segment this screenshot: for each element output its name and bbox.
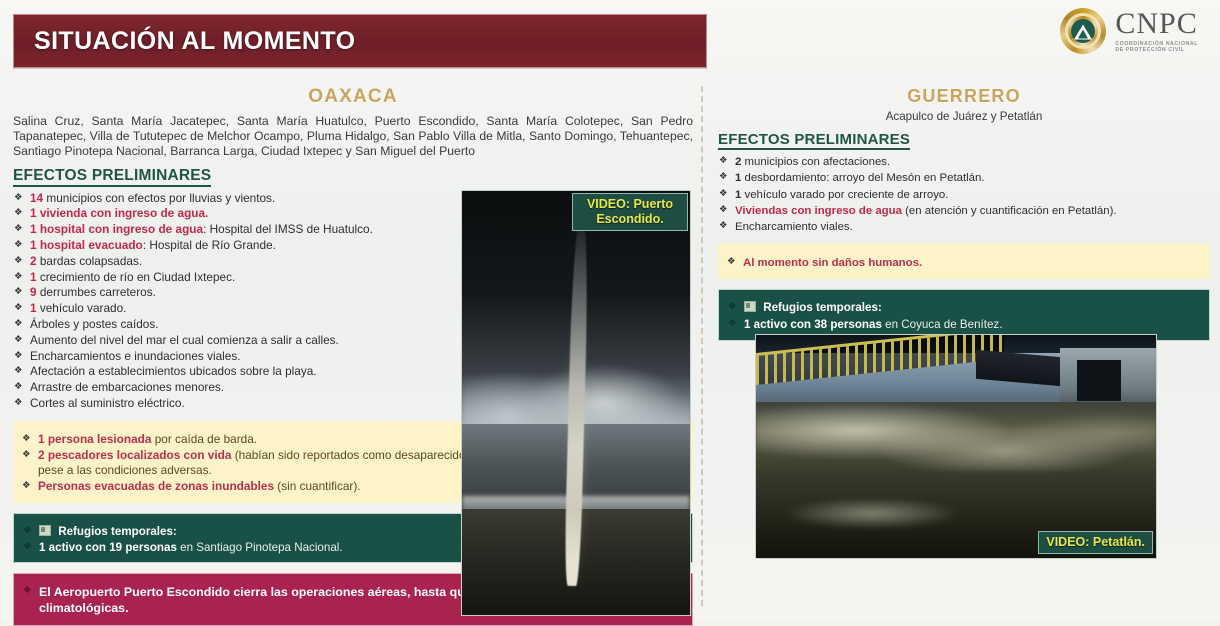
guerrero-shelter-count: 1 activo con 38 personas xyxy=(744,318,882,331)
cnpc-seal-icon xyxy=(1060,8,1106,54)
list-item-text: Encharcamientos e inundaciones viales. xyxy=(30,349,241,363)
list-item-text: bardas colapsadas. xyxy=(37,254,143,268)
list-item: ❖1 vehículo varado por creciente de arro… xyxy=(718,187,1210,203)
bullet-icon: ❖ xyxy=(22,448,31,462)
list-item-emphasis: 2 pescadores localizados con vida xyxy=(38,448,231,462)
guerrero-shelter-list: ❖ Refugios temporales: ❖ 1 activo con 38… xyxy=(727,300,1199,333)
bullet-icon: ❖ xyxy=(14,206,23,220)
guerrero-column: GUERRERO Acapulco de Juárez y Petatlán E… xyxy=(718,86,1210,341)
list-item-emphasis: Al momento sin daños humanos. xyxy=(743,257,922,269)
flood-foam xyxy=(756,404,1156,471)
bullet-icon: ❖ xyxy=(23,540,32,554)
bullet-icon: ❖ xyxy=(14,238,23,252)
bullet-icon: ❖ xyxy=(14,380,23,394)
list-item-text: Cortes al suministro eléctrico. xyxy=(30,396,185,410)
header-bar: SITUACIÓN AL MOMENTO xyxy=(13,14,707,68)
guerrero-human-impact-box: ❖Al momento sin daños humanos. xyxy=(718,244,1210,279)
list-item: ❖ Refugios temporales: xyxy=(727,300,1199,316)
list-item-text: por caída de barda. xyxy=(151,432,257,446)
list-item-text: desbordamiento: arroyo del Mesón en Peta… xyxy=(741,172,984,184)
list-item-emphasis: 14 xyxy=(30,191,43,205)
list-item-text: : Hospital de Río Grande. xyxy=(143,238,276,252)
guerrero-municipalities: Acapulco de Juárez y Petatlán xyxy=(718,110,1210,124)
guerrero-shelter-location: en Coyuca de Benítez. xyxy=(882,318,1003,331)
list-item: ❖Al momento sin daños humanos. xyxy=(726,255,1200,271)
list-item-text: vehículo varado por creciente de arroyo. xyxy=(741,189,948,201)
list-item-text: Aumento del nivel del mar el cual comien… xyxy=(30,333,339,347)
bullet-icon: ❖ xyxy=(727,255,736,269)
shelter-icon xyxy=(39,525,51,536)
column-divider xyxy=(701,86,703,606)
bullet-icon: ❖ xyxy=(22,479,31,493)
bullet-icon: ❖ xyxy=(14,317,23,331)
list-item-text: (en atención y cuantificación en Petatlá… xyxy=(902,205,1117,217)
list-item: ❖Encharcamiento viales. xyxy=(718,219,1210,235)
list-item-text: Árboles y postes caídos. xyxy=(30,317,159,331)
list-item-text: municipios con afectaciones. xyxy=(741,156,890,168)
guerrero-shelter-title: Refugios temporales: xyxy=(763,301,882,314)
bullet-icon: ❖ xyxy=(719,187,728,201)
list-item-emphasis: 1 hospital con ingreso de agua xyxy=(30,222,203,236)
logo-acronym: CNPC xyxy=(1115,9,1198,39)
guerrero-effects-list: ❖2 municipios con afectaciones.❖1 desbor… xyxy=(718,154,1210,235)
bullet-icon: ❖ xyxy=(728,300,737,314)
guerrero-video-label: VIDEO: Petatlán. xyxy=(1038,531,1153,554)
list-item-emphasis: Personas evacuadas de zonas inundables xyxy=(38,479,274,493)
guerrero-video-thumbnail[interactable]: VIDEO: Petatlán. xyxy=(755,334,1157,559)
flood-foam-secondary xyxy=(776,496,1016,532)
cnpc-logo: CNPC COORDINACIÓN NACIONAL DE PROTECCIÓN… xyxy=(1060,8,1198,54)
list-item: ❖2 municipios con afectaciones. xyxy=(718,154,1210,170)
list-item: ❖1 desbordamiento: arroyo del Mesón en P… xyxy=(718,170,1210,186)
guerrero-section-heading: EFECTOS PRELIMINARES xyxy=(718,131,910,150)
bullet-icon: ❖ xyxy=(14,396,23,410)
slide-root: SITUACIÓN AL MOMENTO CNPC COORDINACIÓN N… xyxy=(0,0,1220,620)
bullet-icon: ❖ xyxy=(14,254,23,268)
list-item-text: (sin cuantificar). xyxy=(274,479,361,493)
oaxaca-shelter-location: en Santiago Pinotepa Nacional. xyxy=(177,541,343,554)
list-item-emphasis: Viviendas con ingreso de agua xyxy=(735,205,902,217)
logo-subtitle-line2: DE PROTECCIÓN CIVIL xyxy=(1115,48,1198,53)
oaxaca-video-thumbnail[interactable]: VIDEO: Puerto Escondido. xyxy=(461,190,691,616)
bullet-icon: ❖ xyxy=(14,364,23,378)
list-item-text: vehículo varado. xyxy=(37,301,127,315)
list-item: ❖Viviendas con ingreso de agua (en atenc… xyxy=(718,203,1210,219)
bullet-icon: ❖ xyxy=(23,584,32,598)
bullet-icon: ❖ xyxy=(728,317,737,331)
list-item-emphasis: 1 hospital evacuado xyxy=(30,238,143,252)
oaxaca-section-heading: EFECTOS PRELIMINARES xyxy=(13,167,211,187)
bullet-icon: ❖ xyxy=(14,349,23,363)
oaxaca-municipalities: Salina Cruz, Santa María Jacatepec, Sant… xyxy=(13,114,693,159)
list-item-text: Encharcamiento viales. xyxy=(735,221,853,233)
bullet-icon: ❖ xyxy=(719,203,728,217)
shelter-icon xyxy=(744,301,756,312)
bullet-icon: ❖ xyxy=(14,222,23,236)
bullet-icon: ❖ xyxy=(719,170,728,184)
list-item-emphasis: 1 vivienda con ingreso de agua. xyxy=(30,206,208,220)
list-item-text: municipios con efectos por lluvias y vie… xyxy=(43,191,275,205)
oaxaca-shelter-count: 1 activo con 19 personas xyxy=(39,541,177,554)
bullet-icon: ❖ xyxy=(14,333,23,347)
bullet-icon: ❖ xyxy=(14,285,23,299)
guerrero-human-list: ❖Al momento sin daños humanos. xyxy=(726,255,1200,271)
bullet-icon: ❖ xyxy=(23,524,32,538)
list-item-text: Afectación a establecimientos ubicados s… xyxy=(30,364,317,378)
logo-subtitle: COORDINACIÓN NACIONAL DE PROTECCIÓN CIVI… xyxy=(1115,42,1198,52)
list-item: ❖ 1 activo con 38 personas en Coyuca de … xyxy=(727,317,1199,333)
list-item-text: : Hospital del IMSS de Huatulco. xyxy=(203,222,373,236)
list-item-text: Arrastre de embarcaciones menores. xyxy=(30,380,224,394)
bullet-icon: ❖ xyxy=(22,432,31,446)
page-title: SITUACIÓN AL MOMENTO xyxy=(14,27,355,56)
guerrero-state-title: GUERRERO xyxy=(718,86,1210,107)
bullet-icon: ❖ xyxy=(14,301,23,315)
logo-text: CNPC COORDINACIÓN NACIONAL DE PROTECCIÓN… xyxy=(1115,9,1198,52)
bullet-icon: ❖ xyxy=(14,270,23,284)
list-item-text: crecimiento de río en Ciudad Ixtepec. xyxy=(37,270,236,284)
oaxaca-state-title: OAXACA xyxy=(13,86,693,108)
list-item-emphasis: 1 persona lesionada xyxy=(38,432,151,446)
bullet-icon: ❖ xyxy=(719,219,728,233)
list-item-text: derrumbes carreteros. xyxy=(37,285,156,299)
bullet-icon: ❖ xyxy=(14,191,23,205)
oaxaca-shelter-title: Refugios temporales: xyxy=(58,525,177,538)
bullet-icon: ❖ xyxy=(719,154,728,168)
oaxaca-video-label: VIDEO: Puerto Escondido. xyxy=(572,193,688,231)
